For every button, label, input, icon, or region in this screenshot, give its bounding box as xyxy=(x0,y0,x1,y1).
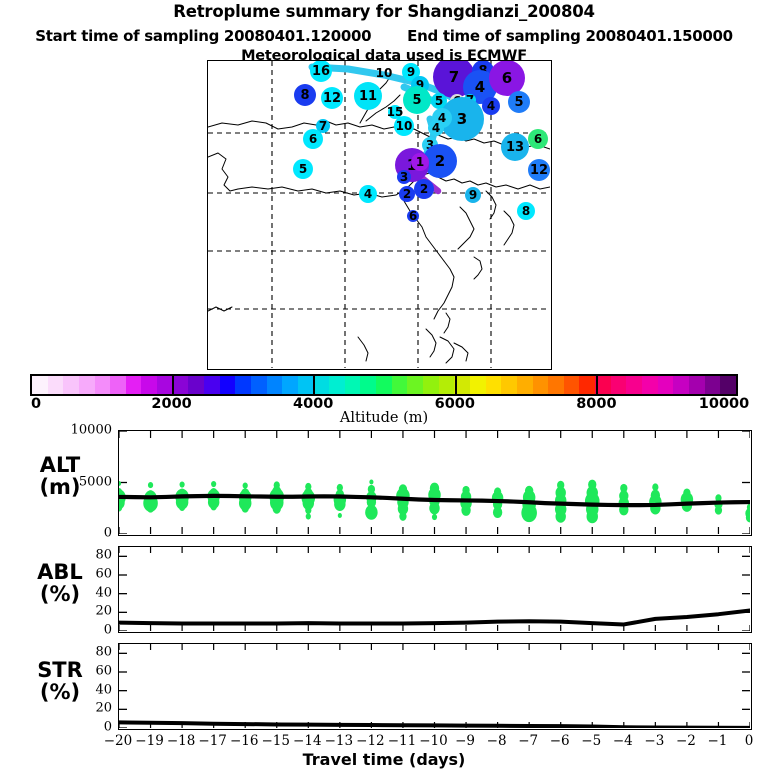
map-point-label: 9 xyxy=(469,189,477,201)
colorbar-segment xyxy=(376,376,392,394)
map-point-label: 10 xyxy=(396,120,413,132)
map-point-label: 5 xyxy=(514,96,523,109)
map-point-label: 2 xyxy=(403,188,411,200)
map-point-label: 12 xyxy=(530,164,548,177)
colorbar-segment xyxy=(548,376,564,394)
str-chart-panel xyxy=(118,643,752,730)
alt-scatter-point xyxy=(148,482,153,488)
x-axis-title: Travel time (days) xyxy=(0,750,768,769)
y-tick-label: 80 xyxy=(52,645,112,660)
y-tick-label: 40 xyxy=(52,585,112,600)
map-point-label: 3 xyxy=(457,112,467,127)
map-point-label: 4 xyxy=(487,100,495,112)
alt-scatter-point xyxy=(305,507,311,514)
map-point-label: 2 xyxy=(435,154,445,169)
x-tick-label: −4 xyxy=(613,733,633,749)
x-tick-label: −20 xyxy=(104,733,133,749)
coastlines xyxy=(208,77,550,363)
map-point: 10 xyxy=(394,116,414,136)
x-tick-label: 0 xyxy=(745,733,754,749)
x-tick-label: −9 xyxy=(455,733,475,749)
colorbar-separator xyxy=(596,374,598,396)
x-tick-label: −17 xyxy=(198,733,227,749)
map-point-label: 1 xyxy=(416,156,424,168)
x-tick-label: −12 xyxy=(356,733,385,749)
colorbar-segment xyxy=(407,376,423,394)
map-point-label: 12 xyxy=(323,92,341,105)
alt-scatter-point xyxy=(399,512,406,521)
colorbar-segment xyxy=(720,376,736,394)
colorbar-segment xyxy=(173,376,189,394)
x-tick-label: −13 xyxy=(325,733,354,749)
map-point-label: 8 xyxy=(300,89,309,102)
x-tick-label: −14 xyxy=(293,733,322,749)
colorbar-segment xyxy=(658,376,674,394)
x-tick-label: −8 xyxy=(487,733,507,749)
colorbar-segment xyxy=(251,376,267,394)
start-time-label: Start time of sampling 20080401.120000 xyxy=(35,27,371,45)
map-point-label: 5 xyxy=(435,95,443,107)
colorbar-segment xyxy=(501,376,517,394)
alt-scatter-point xyxy=(119,481,121,486)
colorbar-segment xyxy=(267,376,283,394)
abl-line xyxy=(119,610,750,624)
map-point-label: 13 xyxy=(506,141,524,154)
map-point-label: 2 xyxy=(420,183,428,195)
colorbar-segment xyxy=(486,376,502,394)
colorbar-segment xyxy=(298,376,314,394)
y-tick-label: 20 xyxy=(52,604,112,619)
colorbar-segment xyxy=(689,376,705,394)
map-point: 5 xyxy=(508,91,530,113)
colorbar-segment xyxy=(392,376,408,394)
sampling-time-row: Start time of sampling 20080401.120000 E… xyxy=(0,27,768,45)
map-point: 5 xyxy=(403,86,431,114)
x-tick-label: −5 xyxy=(581,733,601,749)
y-tick-label: 0 xyxy=(52,526,112,541)
alt-scatter-point xyxy=(652,483,658,490)
alt-scatter-point xyxy=(338,513,342,518)
colorbar-segment xyxy=(235,376,251,394)
colorbar-segment xyxy=(188,376,204,394)
alt-scatter-point xyxy=(493,507,502,518)
alt-scatter-point xyxy=(273,504,281,514)
alt-scatter-point xyxy=(179,504,185,511)
colorbar-separator xyxy=(455,374,457,396)
map-point: 11 xyxy=(354,82,382,110)
alt-scatter-point xyxy=(211,503,217,510)
colorbar-segment xyxy=(48,376,64,394)
page-title: Retroplume summary for Shangdianzi_20080… xyxy=(0,2,768,21)
colorbar-caption: Altitude (m) xyxy=(0,410,768,426)
alt-scatter-point xyxy=(306,513,311,519)
y-tick-label: 10000 xyxy=(52,423,112,438)
map-point-label: 4 xyxy=(432,122,440,134)
map-point: 3 xyxy=(397,170,411,184)
alt-scatter-point xyxy=(432,514,437,520)
colorbar-segment xyxy=(517,376,533,394)
colorbar-segment xyxy=(63,376,79,394)
map-point: 12 xyxy=(528,159,550,181)
alt-scatter-point xyxy=(461,505,470,516)
x-tick-label: −1 xyxy=(707,733,727,749)
x-axis-tick-labels: −20−19−18−17−16−15−14−13−12−11−10−9−8−7−… xyxy=(0,733,768,751)
y-tick-label: 0 xyxy=(52,623,112,638)
colorbar-segment xyxy=(423,376,439,394)
map-point: 4 xyxy=(359,185,377,203)
x-tick-label: −3 xyxy=(644,733,664,749)
colorbar-separator xyxy=(172,374,174,396)
colorbar-segment xyxy=(110,376,126,394)
map-point: 5 xyxy=(293,159,313,179)
x-tick-label: −18 xyxy=(167,733,196,749)
map-point: 2 xyxy=(399,186,415,202)
map-point-label: 6 xyxy=(409,210,417,222)
colorbar-segment xyxy=(564,376,580,394)
map-point-label: 6 xyxy=(309,133,317,145)
alt-scatter-point xyxy=(211,481,216,487)
map-point-label: 16 xyxy=(312,65,330,78)
map-point-label: 9 xyxy=(407,66,415,78)
y-tick-label: 40 xyxy=(52,682,112,697)
map-point: 10 xyxy=(376,65,392,81)
colorbar-segment xyxy=(439,376,455,394)
x-tick-label: −6 xyxy=(550,733,570,749)
colorbar-segment xyxy=(673,376,689,394)
map-point: 8 xyxy=(517,202,535,220)
alt-scatter-point xyxy=(587,510,598,524)
map-point: 2 xyxy=(414,179,434,199)
retroplume-map: 1610978468121195567543415104763136521132… xyxy=(207,60,552,370)
map-point-label: 8 xyxy=(522,205,530,217)
x-tick-label: −19 xyxy=(135,733,164,749)
x-tick-label: −11 xyxy=(388,733,417,749)
map-point-label: 7 xyxy=(449,70,459,85)
x-tick-label: −7 xyxy=(518,733,538,749)
map-point: 6 xyxy=(407,210,419,222)
colorbar-segment xyxy=(360,376,376,394)
alt-scatter-point xyxy=(521,504,537,523)
alt-scatter-point xyxy=(715,506,722,515)
altitude-colorbar xyxy=(30,374,738,396)
map-point: 6 xyxy=(528,129,548,149)
map-point-label: 4 xyxy=(364,188,372,200)
colorbar-segment xyxy=(95,376,111,394)
colorbar-segment xyxy=(314,376,330,394)
end-time-label: End time of sampling 20080401.150000 xyxy=(407,27,733,45)
map-point-label: 4 xyxy=(475,80,485,95)
colorbar-separator xyxy=(313,374,315,396)
alt-scatter-point xyxy=(334,497,345,511)
map-point: 8 xyxy=(294,84,316,106)
colorbar-segment xyxy=(126,376,142,394)
map-point: 13 xyxy=(501,133,529,161)
colorbar-segment xyxy=(157,376,173,394)
y-tick-label: 60 xyxy=(52,567,112,582)
colorbar-segment xyxy=(141,376,157,394)
x-tick-label: −10 xyxy=(419,733,448,749)
colorbar-segment xyxy=(79,376,95,394)
colorbar-segment xyxy=(282,376,298,394)
map-point-label: 6 xyxy=(534,133,542,145)
map-point-label: 10 xyxy=(376,67,393,79)
alt-scatter-point xyxy=(243,482,248,488)
colorbar-segment xyxy=(611,376,627,394)
y-tick-label: 5000 xyxy=(52,474,112,489)
colorbar-segment xyxy=(626,376,642,394)
map-point-label: 5 xyxy=(412,94,421,107)
y-tick-label: 80 xyxy=(52,548,112,563)
map-point-label: 11 xyxy=(359,90,377,103)
map-point: 1 xyxy=(411,153,429,171)
map-point-label: 3 xyxy=(400,171,408,183)
alt-scatter-point xyxy=(147,504,154,513)
x-tick-label: −2 xyxy=(676,733,696,749)
alt-scatter-point xyxy=(556,510,566,522)
map-point: 4 xyxy=(428,120,444,136)
str-chart-graphics xyxy=(119,644,750,728)
x-tick-label: −16 xyxy=(230,733,259,749)
y-tick-label: 60 xyxy=(52,664,112,679)
map-point: 9 xyxy=(465,187,481,203)
colorbar-segment xyxy=(204,376,220,394)
colorbar-segment xyxy=(533,376,549,394)
alt-scatter-point xyxy=(369,480,373,485)
map-point: 4 xyxy=(482,97,500,115)
abl-chart-panel xyxy=(118,546,752,633)
x-tick-label: −15 xyxy=(262,733,291,749)
map-point: 12 xyxy=(321,87,343,109)
alt-chart-panel xyxy=(118,430,752,536)
colorbar-segment xyxy=(345,376,361,394)
colorbar-segment xyxy=(579,376,595,394)
alt-scatter-point xyxy=(365,505,377,520)
map-point: 6 xyxy=(303,129,323,149)
map-point-label: 5 xyxy=(299,163,307,175)
colorbar-segment xyxy=(329,376,345,394)
colorbar-segment xyxy=(470,376,486,394)
map-point: 16 xyxy=(310,60,332,82)
alt-chart-graphics xyxy=(119,431,750,534)
colorbar-segment xyxy=(642,376,658,394)
colorbar-segment xyxy=(220,376,236,394)
abl-chart-graphics xyxy=(119,547,750,631)
map-point-label: 6 xyxy=(502,71,512,86)
alt-scatter-point xyxy=(429,502,439,514)
map-point-label: 7 xyxy=(319,120,327,132)
colorbar-segment xyxy=(705,376,721,394)
alt-scatter-point xyxy=(180,481,185,487)
y-tick-label: 20 xyxy=(52,701,112,716)
colorbar-segment xyxy=(32,376,48,394)
alt-scatter-point xyxy=(242,504,249,513)
